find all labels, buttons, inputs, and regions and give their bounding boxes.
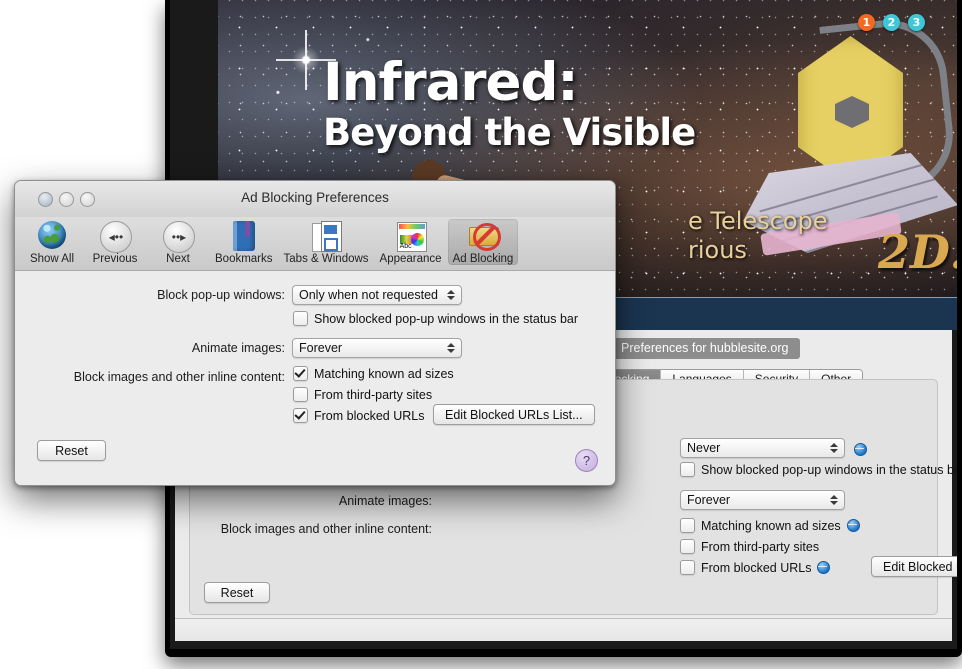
bg-animate-value: Forever xyxy=(687,493,829,507)
sheet-title: Preferences for hubblesite.org xyxy=(609,338,800,359)
chevron-updown-icon xyxy=(829,493,838,507)
globe-icon xyxy=(817,561,830,574)
dialog-toolbar[interactable]: Show All ◂•• Previous ••▸ Next Bookmarks xyxy=(15,217,615,271)
bg-block-item-row[interactable]: From blocked URLs xyxy=(680,560,830,575)
step-dot-1[interactable]: 1 xyxy=(858,14,875,31)
animate-value: Forever xyxy=(299,341,446,355)
ad-blocking-preferences-dialog[interactable]: Ad Blocking Preferences Show All ◂•• Pre… xyxy=(14,180,616,486)
chevron-updown-icon xyxy=(446,288,455,302)
bg-popup-value: Never xyxy=(687,441,829,455)
bg-block-label: Block images and other inline content: xyxy=(221,522,432,536)
reset-button[interactable]: Reset xyxy=(37,440,106,461)
toolbar-label: Previous xyxy=(93,253,138,265)
toolbar-label: Tabs & Windows xyxy=(284,253,369,265)
bg-blocked-urls-checkbox[interactable] xyxy=(680,560,695,575)
bg-matching-ad-sizes-label: Matching known ad sizes xyxy=(701,519,841,533)
block-item-row[interactable]: Matching known ad sizes xyxy=(293,366,454,381)
third-party-label: From third-party sites xyxy=(314,388,432,402)
bg-block-item-row[interactable]: Matching known ad sizes xyxy=(680,518,860,533)
popup-select[interactable]: Only when not requested xyxy=(292,285,462,305)
matching-ad-sizes-label: Matching known ad sizes xyxy=(314,367,454,381)
dialog-titlebar[interactable]: Ad Blocking Preferences xyxy=(15,181,615,218)
previous-icon: ◂•• xyxy=(99,220,131,252)
desktop: Infrared: Beyond the Visible e Telescope… xyxy=(0,0,962,669)
toolbar-label: Next xyxy=(166,253,190,265)
toolbar-label: Appearance xyxy=(380,253,442,265)
toolbar-item-appearance[interactable]: Abc Appearance xyxy=(375,219,447,265)
toolbar-item-ad-blocking[interactable]: Ad Blocking xyxy=(448,219,519,265)
bg-animate-label: Animate images: xyxy=(339,494,432,508)
help-button[interactable]: ? xyxy=(575,449,598,472)
appearance-icon: Abc xyxy=(395,220,427,252)
block-label: Block images and other inline content: xyxy=(45,370,285,384)
popup-value: Only when not requested xyxy=(299,288,446,302)
hero-subtitle-line1: e Telescope xyxy=(688,207,828,235)
edit-blocked-urls-button[interactable]: Edit Blocked URLs List... xyxy=(433,404,595,425)
step-dots[interactable]: 1 2 3 xyxy=(858,14,925,31)
bg-popup-statusbar-label: Show blocked pop-up windows in the statu… xyxy=(701,463,957,477)
toolbar-label: Show All xyxy=(30,253,74,265)
popup-statusbar-checkbox[interactable] xyxy=(293,311,308,326)
hero-2d-label: 2D! xyxy=(878,225,957,279)
toolbar-item-next[interactable]: ••▸ Next xyxy=(147,219,209,265)
toolbar-item-bookmarks[interactable]: Bookmarks xyxy=(210,219,278,265)
bg-matching-ad-sizes-checkbox[interactable] xyxy=(680,518,695,533)
step-dot-2[interactable]: 2 xyxy=(883,14,900,31)
toolbar-item-tabs-windows[interactable]: Tabs & Windows xyxy=(279,219,374,265)
globe-icon xyxy=(847,519,860,532)
dialog-body: Block pop-up windows: Only when not requ… xyxy=(15,271,615,485)
toolbar-label: Ad Blocking xyxy=(453,253,514,265)
hero-subtitle-line2: rious xyxy=(688,236,747,264)
blocked-urls-label: From blocked URLs xyxy=(314,409,424,423)
animate-label: Animate images: xyxy=(145,341,285,355)
bg-blocked-urls-label: From blocked URLs xyxy=(701,561,811,575)
ad-blocking-icon xyxy=(467,220,499,252)
tabs-windows-icon xyxy=(310,220,342,252)
bg-popup-statusbar-checkbox[interactable] xyxy=(680,462,695,477)
globe-icon xyxy=(36,220,68,252)
bg-popup-select[interactable]: Never xyxy=(680,438,845,458)
bg-popup-statusbar-row[interactable]: Show blocked pop-up windows in the statu… xyxy=(680,462,957,477)
toolbar-label: Bookmarks xyxy=(215,253,273,265)
toolbar-item-previous[interactable]: ◂•• Previous xyxy=(84,219,146,265)
block-item-row[interactable]: From third-party sites xyxy=(293,387,432,402)
bg-third-party-label: From third-party sites xyxy=(701,540,819,554)
bg-animate-select[interactable]: Forever xyxy=(680,490,845,510)
animate-select[interactable]: Forever xyxy=(292,338,462,358)
third-party-checkbox[interactable] xyxy=(293,387,308,402)
chevron-updown-icon xyxy=(446,341,455,355)
toolbar-item-show-all[interactable]: Show All xyxy=(21,219,83,265)
matching-ad-sizes-checkbox[interactable] xyxy=(293,366,308,381)
bg-reset-button[interactable]: Reset xyxy=(204,582,270,603)
blocked-urls-checkbox[interactable] xyxy=(293,408,308,423)
chevron-updown-icon xyxy=(829,441,838,455)
popup-label: Block pop-up windows: xyxy=(135,288,285,302)
popup-statusbar-label: Show blocked pop-up windows in the statu… xyxy=(314,312,578,326)
block-item-row[interactable]: From blocked URLs xyxy=(293,408,424,423)
hero-title: Infrared: Beyond the Visible xyxy=(323,55,695,155)
hero-title-line1: Infrared: xyxy=(323,55,695,111)
popup-statusbar-row[interactable]: Show blocked pop-up windows in the statu… xyxy=(293,311,578,326)
dialog-title: Ad Blocking Preferences xyxy=(15,190,615,205)
browser-status-bar xyxy=(175,618,952,641)
bookmarks-icon xyxy=(228,220,260,252)
step-dot-3[interactable]: 3 xyxy=(908,14,925,31)
bg-block-item-row[interactable]: From third-party sites xyxy=(680,539,819,554)
bg-edit-blocked-urls-button[interactable]: Edit Blocked URLs List... xyxy=(871,556,957,577)
next-icon: ••▸ xyxy=(162,220,194,252)
globe-icon xyxy=(854,443,867,456)
hero-title-line2: Beyond the Visible xyxy=(323,111,695,155)
bg-third-party-checkbox[interactable] xyxy=(680,539,695,554)
